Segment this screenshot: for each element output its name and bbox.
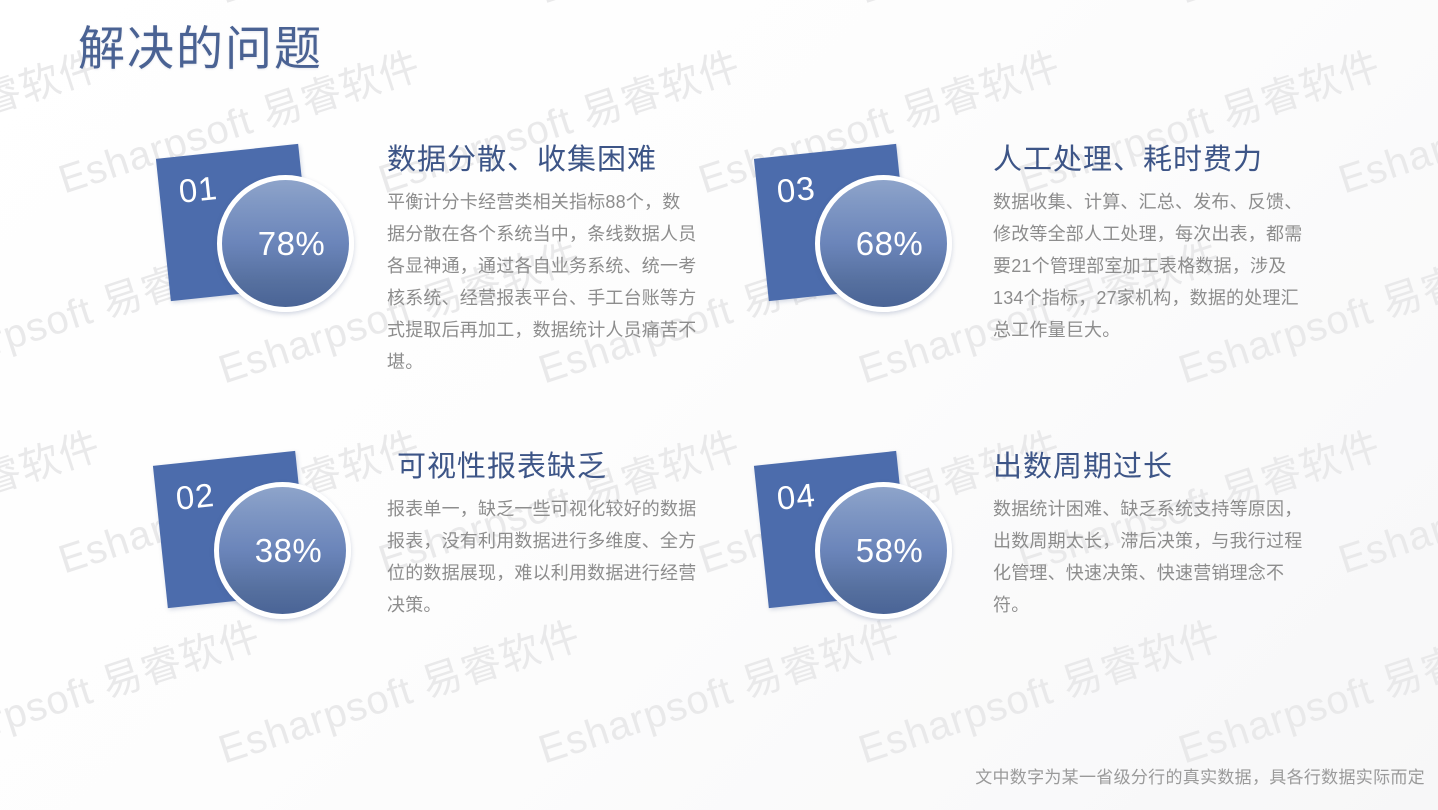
watermark-text: Esharpsoft 易睿软件	[1330, 793, 1438, 810]
item-heading-04: 出数周期过长	[993, 450, 1313, 485]
stat-graphic-01: 01 78%	[155, 143, 365, 343]
item-number-04: 04	[775, 476, 817, 518]
item-body-01: 平衡计分卡经营类相关指标88个，数据分散在各个系统当中，条线数据人员各显神通，通…	[387, 186, 697, 378]
watermark-text: Esharpsoft 易睿软件	[690, 793, 1067, 810]
stat-graphic-03: 03 68%	[753, 143, 963, 343]
watermark-text: Esharpsoft 易睿软件	[1330, 33, 1438, 205]
percent-value-02: 38%	[255, 532, 323, 570]
watermark-text: Esharpsoft 易睿软件	[50, 793, 427, 810]
item-heading-01: 数据分散、收集困难	[387, 143, 697, 178]
watermark-text: Esharpsoft 易睿软件	[0, 0, 267, 15]
item-heading-02: 可视性报表缺乏	[387, 450, 697, 485]
percent-circle-01: 78%	[217, 175, 354, 312]
text-column-04: 出数周期过长 数据统计困难、缺乏系统支持等原因，出数周期太长，滞后决策，与我行过…	[993, 450, 1313, 621]
page-title: 解决的问题	[78, 22, 323, 76]
watermark-text: Esharpsoft 易睿软件	[1330, 413, 1438, 585]
item-body-04: 数据统计困难、缺乏系统支持等原因，出数周期太长，滞后决策，与我行过程化管理、快速…	[993, 493, 1313, 621]
percent-circle-02: 38%	[214, 482, 351, 619]
percent-circle-03: 68%	[815, 175, 952, 312]
watermark-text: Esharpsoft 易睿软件	[0, 793, 107, 810]
stat-graphic-04: 04 58%	[753, 450, 963, 650]
text-column-01: 数据分散、收集困难 平衡计分卡经营类相关指标88个，数据分散在各个系统当中，条线…	[387, 143, 697, 378]
watermark-text: Esharpsoft 易睿软件	[1170, 603, 1438, 775]
item-body-02: 报表单一，缺乏一些可视化较好的数据报表，没有利用数据进行多维度、全方位的数据展现…	[387, 493, 697, 621]
percent-circle-04: 58%	[815, 482, 952, 619]
footer-note: 文中数字为某一省级分行的真实数据，具各行数据实际而定	[975, 763, 1425, 788]
watermark-layer: Esharpsoft 易睿软件Esharpsoft 易睿软件Esharpsoft…	[0, 0, 1438, 810]
watermark-text: Esharpsoft 易睿软件	[850, 0, 1227, 15]
watermark-text: Esharpsoft 易睿软件	[1010, 793, 1387, 810]
percent-value-04: 58%	[856, 532, 924, 570]
text-column-02: 可视性报表缺乏 报表单一，缺乏一些可视化较好的数据报表，没有利用数据进行多维度、…	[387, 450, 697, 621]
item-number-02: 02	[174, 476, 216, 518]
item-number-03: 03	[775, 169, 817, 211]
item-number-01: 01	[177, 169, 219, 211]
watermark-text: Esharpsoft 易睿软件	[1170, 0, 1438, 15]
watermark-text: Esharpsoft 易睿软件	[530, 0, 907, 15]
watermark-text: Esharpsoft 易睿软件	[370, 793, 747, 810]
stat-graphic-02: 02 38%	[152, 450, 362, 650]
item-heading-03: 人工处理、耗时费力	[993, 143, 1313, 178]
percent-value-03: 68%	[856, 225, 924, 263]
watermark-text: Esharpsoft 易睿软件	[0, 413, 107, 585]
slide-canvas: Esharpsoft 易睿软件Esharpsoft 易睿软件Esharpsoft…	[0, 0, 1438, 810]
item-body-03: 数据收集、计算、汇总、发布、反馈、修改等全部人工处理，每次出表，都需要21个管理…	[993, 186, 1313, 346]
watermark-text: Esharpsoft 易睿软件	[210, 0, 587, 15]
percent-value-01: 78%	[258, 225, 326, 263]
text-column-03: 人工处理、耗时费力 数据收集、计算、汇总、发布、反馈、修改等全部人工处理，每次出…	[993, 143, 1313, 346]
